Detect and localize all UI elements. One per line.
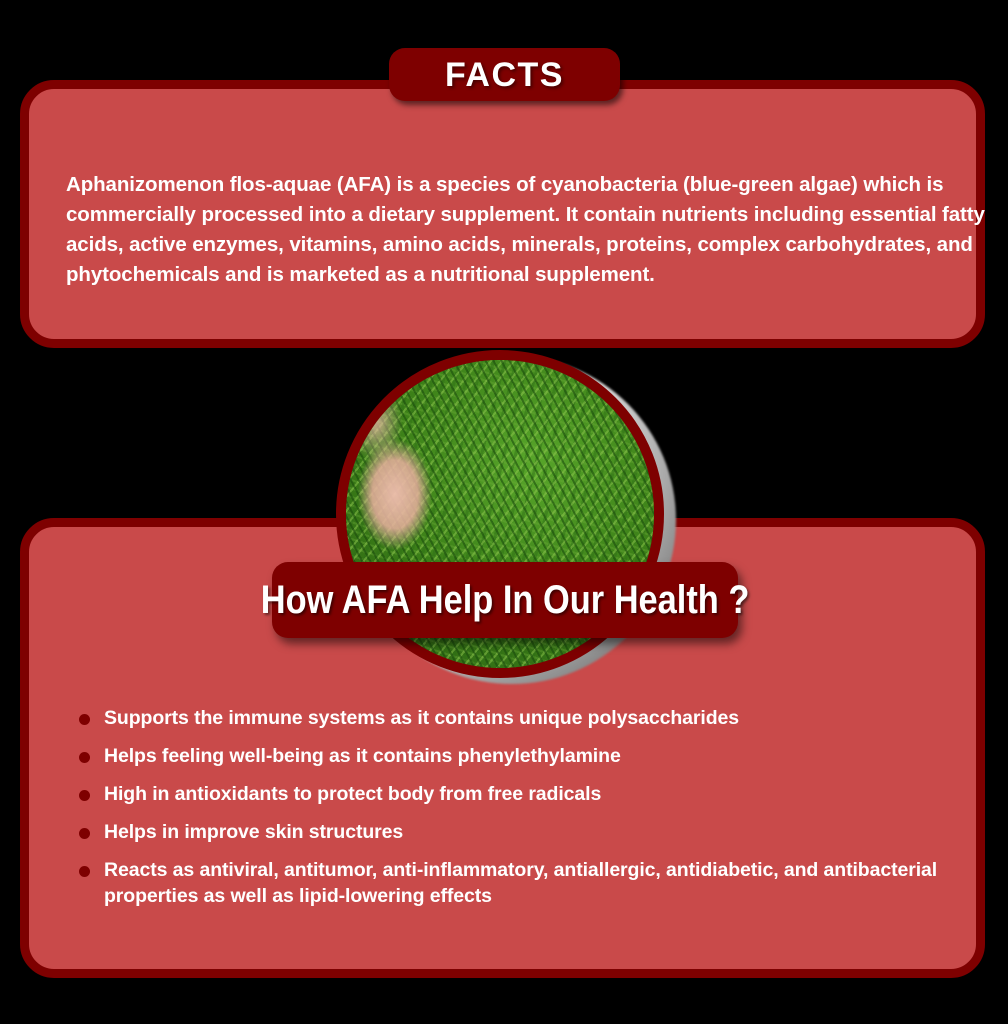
list-item: High in antioxidants to protect body fro… (79, 781, 969, 807)
facts-paragraph: Aphanizomenon flos-aquae (AFA) is a spec… (66, 170, 1006, 290)
bullet-dot-icon (79, 752, 90, 763)
health-heading-ribbon: How AFA Help In Our Health ? (272, 562, 738, 638)
health-heading-label: How AFA Help In Our Health ? (261, 580, 750, 620)
bullet-dot-icon (79, 790, 90, 801)
benefit-text: Helps in improve skin structures (104, 821, 403, 843)
benefit-text: Supports the immune systems as it contai… (104, 707, 739, 729)
facts-ribbon-label: FACTS (445, 58, 564, 92)
list-item: Supports the immune systems as it contai… (79, 705, 969, 731)
benefits-list: Supports the immune systems as it contai… (79, 705, 969, 921)
benefit-text: High in antioxidants to protect body fro… (104, 783, 601, 805)
list-item: Helps in improve skin structures (79, 819, 969, 845)
benefit-text: Helps feeling well-being as it contains … (104, 745, 621, 767)
infographic-canvas: Aphanizomenon flos-aquae (AFA) is a spec… (0, 0, 1008, 1024)
bullet-dot-icon (79, 828, 90, 839)
facts-panel: Aphanizomenon flos-aquae (AFA) is a spec… (20, 80, 985, 348)
benefit-text: Reacts as antiviral, antitumor, anti-inf… (104, 859, 937, 907)
list-item: Helps feeling well-being as it contains … (79, 743, 969, 769)
list-item: Reacts as antiviral, antitumor, anti-inf… (79, 857, 969, 909)
bullet-dot-icon (79, 714, 90, 725)
bullet-dot-icon (79, 866, 90, 877)
facts-ribbon: FACTS (389, 48, 620, 101)
